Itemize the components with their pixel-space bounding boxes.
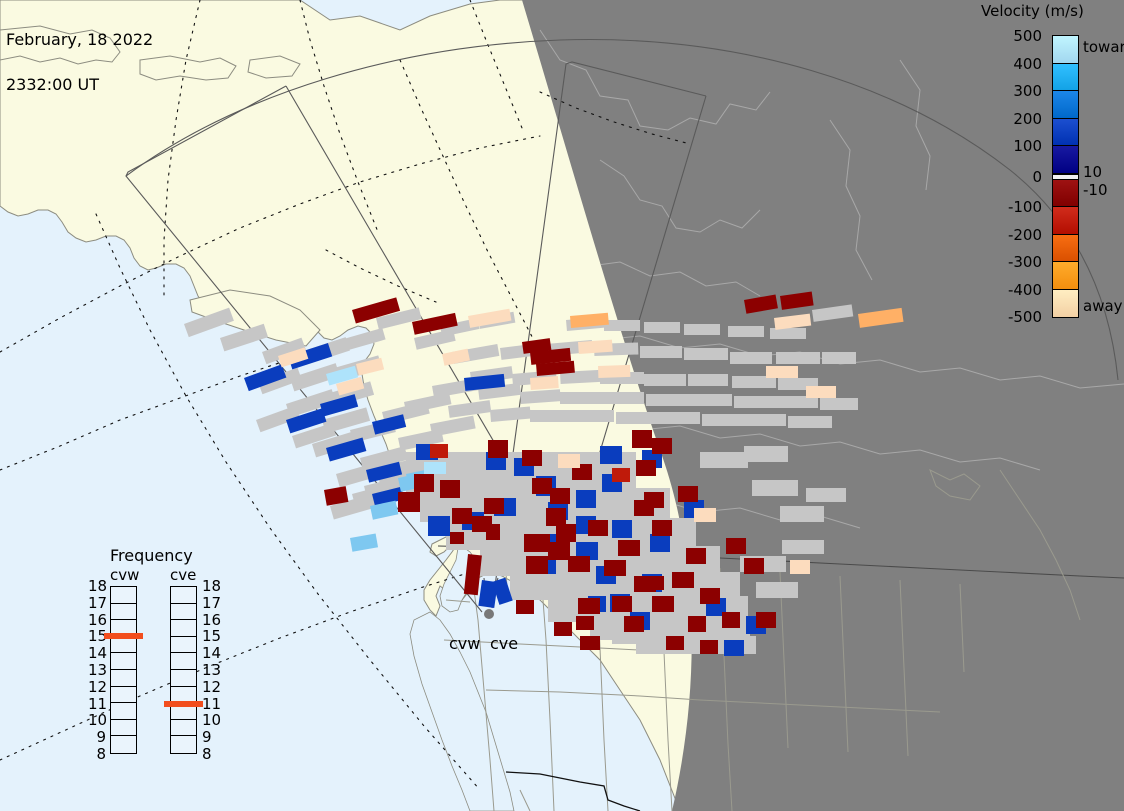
velocity-tick-400: 400 (1013, 55, 1047, 73)
frequency-tick-cve-16: 16 (202, 611, 221, 629)
frequency-tick-cvw-10: 10 (88, 711, 106, 729)
velocity-tick--100: -100 (1008, 198, 1047, 216)
frequency-cell (171, 637, 196, 654)
velocity-tick--500: -500 (1008, 308, 1047, 326)
frequency-marker-cvw (104, 633, 143, 639)
frequency-cell (171, 653, 196, 670)
frequency-cell (171, 620, 196, 637)
velocity-label-away: away (1083, 297, 1123, 315)
frequency-tick-cve-9: 9 (202, 728, 212, 746)
frequency-marker-cve (164, 701, 203, 707)
plot-time: 2332:00 UT (6, 77, 153, 92)
frequency-bar-cvw[interactable] (110, 586, 137, 754)
frequency-cell (171, 604, 196, 621)
velocity-color-band-4 (1053, 146, 1078, 174)
frequency-tick-cvw-11: 11 (88, 695, 106, 713)
radar-site-marker (484, 609, 494, 619)
frequency-bar-cve[interactable] (170, 586, 197, 754)
frequency-cell (111, 703, 136, 720)
frequency-tick-cve-17: 17 (202, 594, 221, 612)
velocity-tick--300: -300 (1008, 253, 1047, 271)
frequency-column-label-cvw: cvw (110, 566, 139, 584)
velocity-color-band-10 (1053, 290, 1078, 318)
velocity-label-neg10: -10 (1083, 181, 1108, 199)
frequency-cell (111, 587, 136, 604)
velocity-color-band-2 (1053, 91, 1078, 119)
frequency-tick-cve-15: 15 (202, 627, 221, 645)
velocity-tick-300: 300 (1013, 82, 1047, 100)
velocity-tick-500: 500 (1013, 27, 1047, 45)
frequency-cell (171, 670, 196, 687)
plot-date: February, 18 2022 (6, 32, 153, 47)
frequency-tick-cvw-13: 13 (88, 661, 106, 679)
velocity-tick--200: -200 (1008, 226, 1047, 244)
frequency-tick-cve-18: 18 (202, 577, 221, 595)
superdarn-plot: February, 18 2022 2332:00 UT cvw cve Vel… (0, 0, 1124, 811)
frequency-tick-cvw-17: 17 (88, 594, 106, 612)
frequency-tick-cvw-18: 18 (88, 577, 106, 595)
frequency-tick-cve-11: 11 (202, 695, 221, 713)
frequency-cell (111, 736, 136, 753)
frequency-cell (111, 720, 136, 737)
frequency-tick-cve-14: 14 (202, 644, 221, 662)
velocity-color-band-9 (1053, 262, 1078, 290)
frequency-tick-cve-8: 8 (202, 745, 212, 763)
velocity-label-pos10: 10 (1083, 163, 1102, 181)
station-label-cvw: cvw (449, 634, 480, 653)
velocity-colorbar-legend: Velocity (m/s) 5004003002001000-100-200-… (975, 2, 1124, 327)
velocity-color-band-0 (1053, 36, 1078, 64)
frequency-tick-cvw-16: 16 (88, 611, 106, 629)
frequency-tick-cvw-8: 8 (88, 745, 106, 763)
frequency-cell (171, 587, 196, 604)
frequency-cell (111, 604, 136, 621)
velocity-tick-0: 0 (1032, 168, 1047, 186)
frequency-cell (171, 736, 196, 753)
frequency-tick-cvw-9: 9 (88, 728, 106, 746)
station-label-cve: cve (490, 634, 518, 653)
velocity-color-band-6 (1053, 180, 1078, 208)
velocity-tick-100: 100 (1013, 137, 1047, 155)
velocity-colorbar[interactable] (1052, 35, 1079, 318)
frequency-cell (111, 670, 136, 687)
frequency-tick-cvw-12: 12 (88, 678, 106, 696)
frequency-legend-title: Frequency (110, 546, 193, 565)
timestamp-block: February, 18 2022 2332:00 UT (6, 2, 153, 122)
frequency-cell (111, 687, 136, 704)
velocity-tick-200: 200 (1013, 110, 1047, 128)
velocity-legend-title: Velocity (m/s) (981, 2, 1084, 20)
frequency-cell (111, 653, 136, 670)
velocity-color-band-7 (1053, 207, 1078, 235)
velocity-label-toward: toward (1083, 38, 1124, 56)
velocity-color-band-8 (1053, 235, 1078, 263)
velocity-color-band-1 (1053, 64, 1078, 92)
velocity-tick--400: -400 (1008, 281, 1047, 299)
frequency-legend: Frequency cvw cve 18171615141312111098 1… (88, 546, 238, 776)
frequency-tick-cve-13: 13 (202, 661, 221, 679)
frequency-column-label-cve: cve (170, 566, 196, 584)
frequency-cell (171, 720, 196, 737)
velocity-color-band-3 (1053, 119, 1078, 147)
frequency-tick-cve-10: 10 (202, 711, 221, 729)
frequency-tick-cve-12: 12 (202, 678, 221, 696)
frequency-tick-cvw-14: 14 (88, 644, 106, 662)
